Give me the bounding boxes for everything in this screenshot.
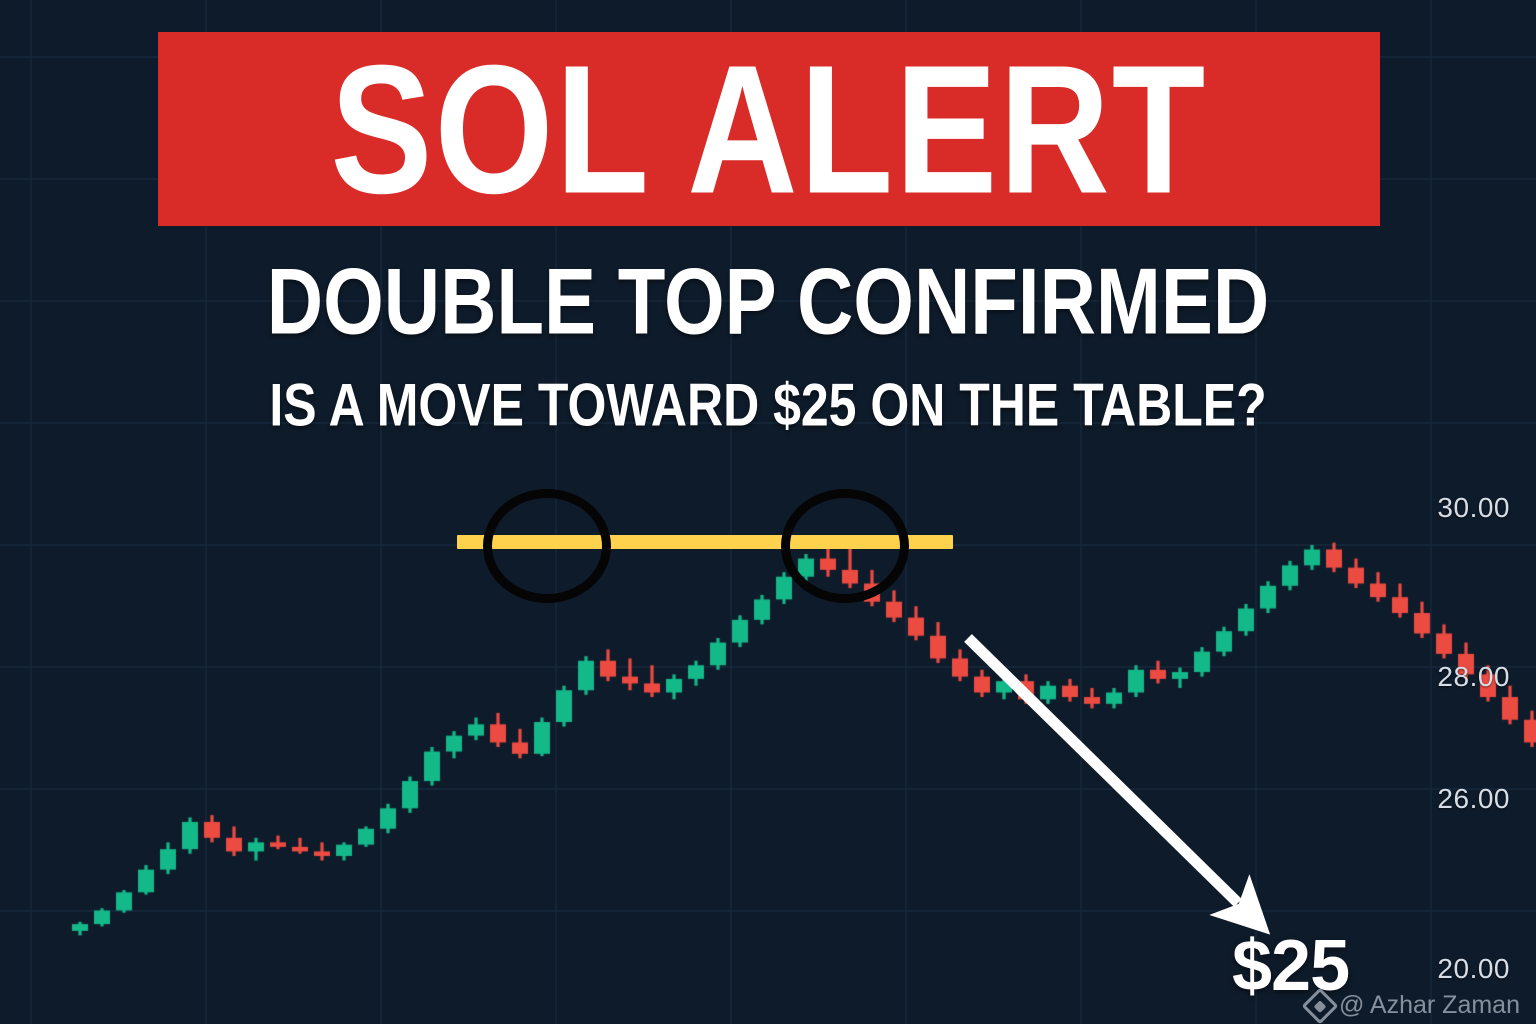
watermark: @ Azhar Zaman <box>1307 991 1520 1020</box>
headline-main: DOUBLE TOP CONFIRMED <box>0 254 1536 348</box>
diamond-logo-icon <box>1302 987 1339 1024</box>
alert-banner: SOL ALERT <box>158 32 1380 226</box>
alert-banner-text: SOL ALERT <box>331 38 1208 221</box>
headline-sub: IS A MOVE TOWARD $25 ON THE TABLE? <box>0 375 1536 435</box>
watermark-handle: @ Azhar Zaman <box>1339 991 1520 1020</box>
infographic-root: 30.00 28.00 26.00 20.00 $25 SOL ALERT DO… <box>0 0 1536 1024</box>
